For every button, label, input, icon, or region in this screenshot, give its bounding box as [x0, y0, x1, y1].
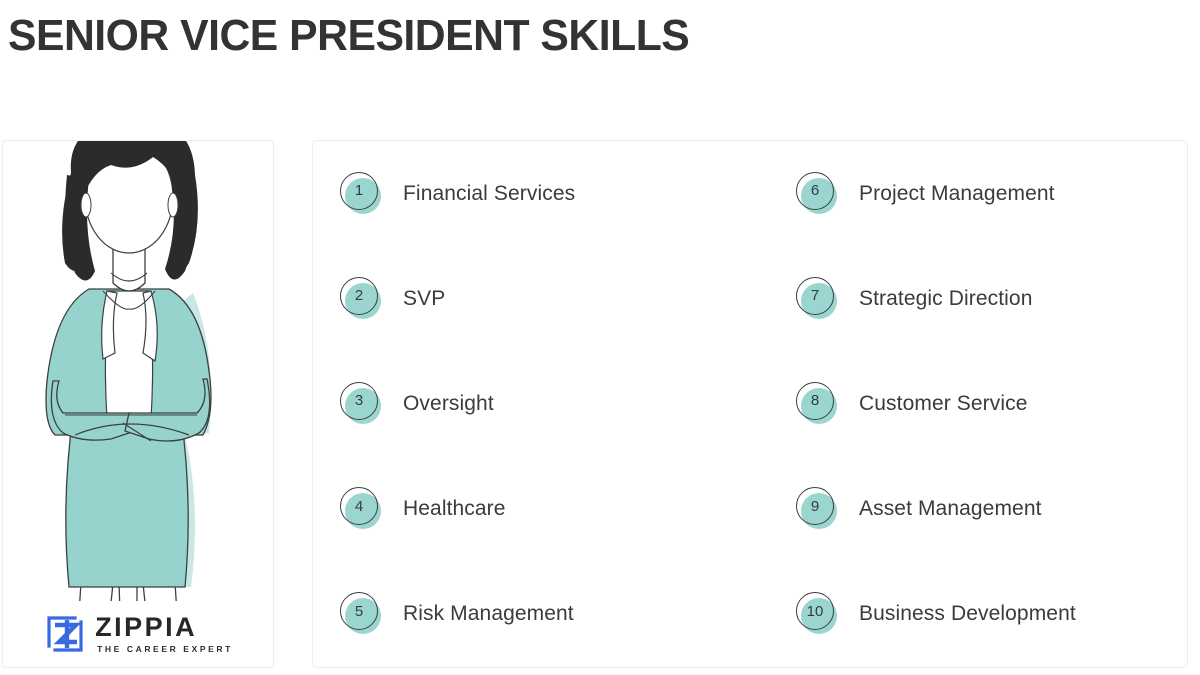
- skill-label: Strategic Direction: [859, 287, 1032, 311]
- skill-number: 2: [340, 277, 378, 315]
- skill-number: 5: [340, 592, 378, 630]
- skill-number-badge-icon: 5: [339, 591, 385, 637]
- skill-number-badge-icon: 8: [795, 381, 841, 427]
- skill-item-10[interactable]: 10 Business Development: [753, 591, 1189, 637]
- skill-label: Asset Management: [859, 497, 1042, 521]
- skill-number-badge-icon: 3: [339, 381, 385, 427]
- skill-item-6[interactable]: 6 Project Management: [753, 171, 1189, 217]
- skill-label: Business Development: [859, 602, 1076, 626]
- skill-number-badge-icon: 7: [795, 276, 841, 322]
- skill-number: 9: [796, 487, 834, 525]
- skills-grid: 1 Financial Services 6 Project Managemen…: [313, 141, 1187, 667]
- skill-number-badge-icon: 9: [795, 486, 841, 532]
- skill-item-2[interactable]: 2 SVP: [313, 276, 753, 322]
- illustration-panel: ZIPPIA THE CAREER EXPERT: [2, 140, 274, 668]
- skill-number-badge-icon: 6: [795, 171, 841, 217]
- zippia-logo[interactable]: ZIPPIA THE CAREER EXPERT: [3, 601, 274, 667]
- skill-item-8[interactable]: 8 Customer Service: [753, 381, 1189, 427]
- page-title: SENIOR VICE PRESIDENT SKILLS: [8, 12, 689, 60]
- zippia-tagline: THE CAREER EXPERT: [97, 645, 233, 654]
- skill-label: Healthcare: [403, 497, 506, 521]
- skill-number: 6: [796, 172, 834, 210]
- skill-number: 7: [796, 277, 834, 315]
- skill-item-4[interactable]: 4 Healthcare: [313, 486, 753, 532]
- skill-label: Project Management: [859, 182, 1055, 206]
- skill-number-badge-icon: 1: [339, 171, 385, 217]
- skill-number: 4: [340, 487, 378, 525]
- skill-label: Risk Management: [403, 602, 574, 626]
- zippia-wordmark: ZIPPIA: [95, 614, 233, 641]
- skill-number-badge-icon: 4: [339, 486, 385, 532]
- zippia-z-mark-icon: [45, 614, 85, 654]
- skill-label: Oversight: [403, 392, 494, 416]
- skill-label: Financial Services: [403, 182, 575, 206]
- skill-label: SVP: [403, 287, 445, 311]
- skill-number: 8: [796, 382, 834, 420]
- skill-item-9[interactable]: 9 Asset Management: [753, 486, 1189, 532]
- skill-item-1[interactable]: 1 Financial Services: [313, 171, 753, 217]
- skill-label: Customer Service: [859, 392, 1027, 416]
- skill-number-badge-icon: 2: [339, 276, 385, 322]
- skill-item-7[interactable]: 7 Strategic Direction: [753, 276, 1189, 322]
- skill-item-3[interactable]: 3 Oversight: [313, 381, 753, 427]
- skill-number: 10: [796, 592, 834, 630]
- skills-panel: 1 Financial Services 6 Project Managemen…: [312, 140, 1188, 668]
- businesswoman-illustration: [3, 140, 274, 643]
- skill-number: 3: [340, 382, 378, 420]
- skill-item-5[interactable]: 5 Risk Management: [313, 591, 753, 637]
- skill-number-badge-icon: 10: [795, 591, 841, 637]
- skill-number: 1: [340, 172, 378, 210]
